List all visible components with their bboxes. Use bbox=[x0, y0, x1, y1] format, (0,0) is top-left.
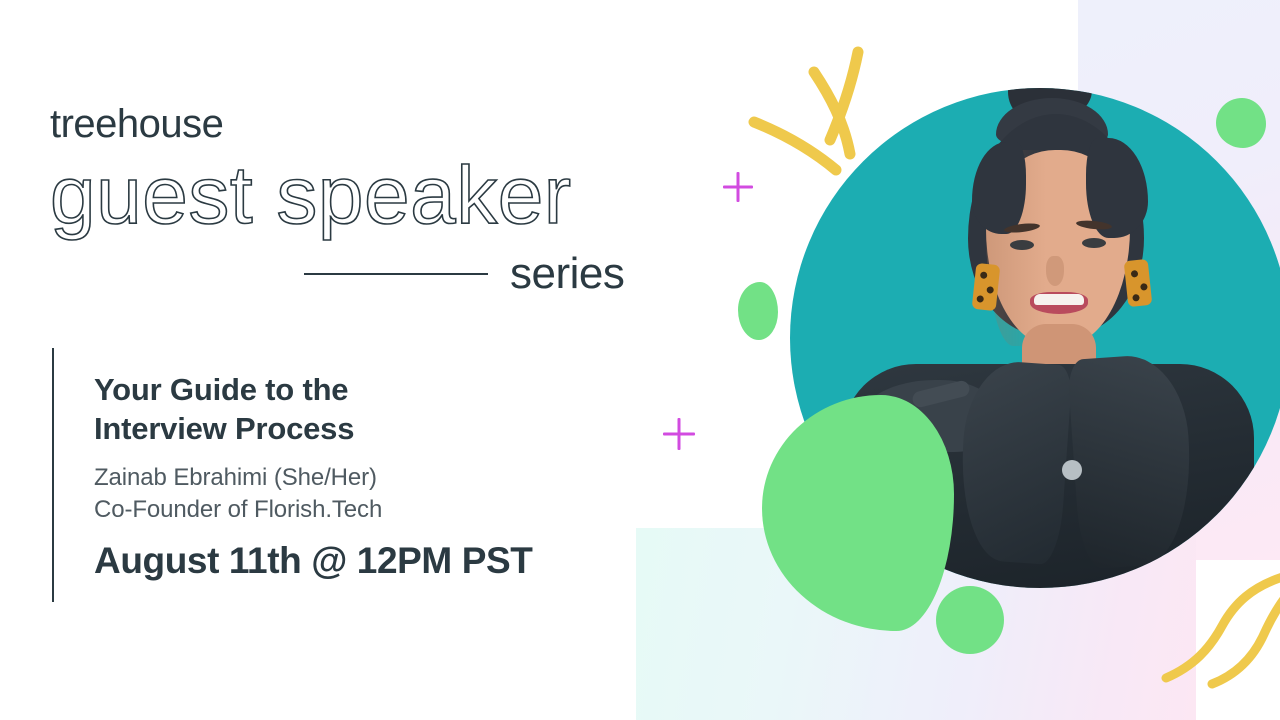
speaker-role: Co-Founder of Florish.Tech bbox=[94, 494, 632, 526]
series-row: series bbox=[50, 252, 650, 296]
talk-title-line-2: Interview Process bbox=[94, 411, 354, 446]
presentation-slide: treehouse guest speaker series Your Guid… bbox=[0, 0, 1280, 720]
event-date-time: August 11th @ 12PM PST bbox=[94, 540, 632, 583]
earring-left-icon bbox=[972, 263, 1001, 311]
headline-guest-speaker: guest speaker bbox=[50, 154, 650, 238]
brand-name: treehouse bbox=[50, 104, 650, 144]
plus-mark-icon-top bbox=[723, 172, 753, 202]
brand-lockup: treehouse guest speaker series bbox=[50, 104, 650, 296]
yellow-squiggle-icon bbox=[1160, 570, 1280, 690]
talk-title-line-1: Your Guide to the bbox=[94, 372, 348, 407]
series-label: series bbox=[510, 252, 624, 296]
green-dot-bottom-icon bbox=[936, 586, 1004, 654]
speaker-name: Zainab Ebrahimi (She/Her) bbox=[94, 462, 632, 494]
plus-mark-icon-middle bbox=[663, 418, 695, 450]
sparkle-burst-icon bbox=[740, 30, 890, 210]
green-blob-small-icon bbox=[738, 282, 778, 340]
event-details: Your Guide to the Interview Process Zain… bbox=[52, 348, 632, 602]
series-divider bbox=[304, 273, 488, 275]
talk-title: Your Guide to the Interview Process bbox=[94, 370, 632, 448]
earring-right-icon bbox=[1124, 259, 1153, 307]
